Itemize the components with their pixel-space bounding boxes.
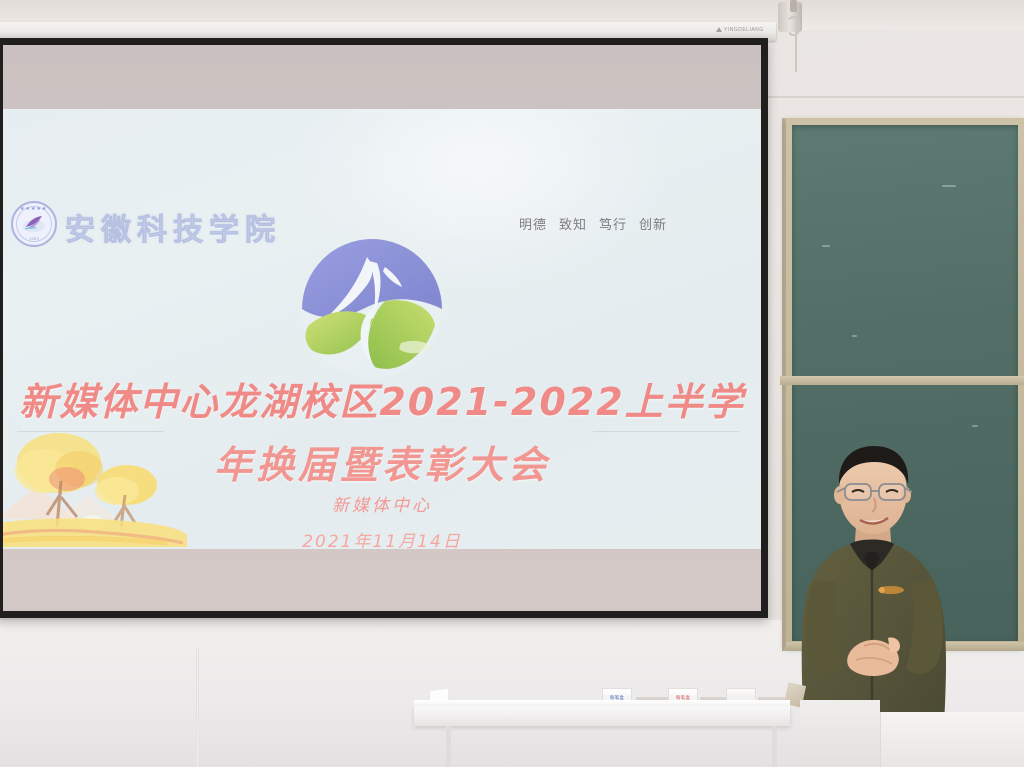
motto-word-2: 致知 <box>559 218 587 233</box>
chalk-smudge <box>822 245 830 247</box>
screen-brand-label: YINGDELIANG <box>716 27 764 33</box>
presentation-slide: ★★★★★ 1983 安徽科技学院 明德致知笃行创新 <box>3 109 761 549</box>
chalk-smudge <box>942 185 956 187</box>
slide-title-line1: 新媒体中心龙湖校区2021-2022上半学 <box>3 371 761 426</box>
teacher-desk[interactable] <box>880 712 1024 767</box>
motto-word-4: 创新 <box>639 218 667 233</box>
teacher-desk-left <box>800 700 880 767</box>
seal-bird-icon <box>22 213 46 233</box>
power-cord <box>795 30 797 72</box>
seal-stars: ★★★★★ <box>20 206 47 212</box>
lectern-ledge[interactable] <box>414 706 790 726</box>
wall-seam <box>762 96 1024 98</box>
motto-word-3: 笃行 <box>599 218 627 233</box>
slide-title-line2: 年换届暨表彰大会 <box>3 434 761 489</box>
lectern-leg <box>772 726 777 767</box>
projection-screen[interactable]: ★★★★★ 1983 安徽科技学院 明德致知笃行创新 <box>0 38 768 618</box>
wall-panel-joint <box>196 648 199 767</box>
seal-year-text: 1983 <box>11 236 57 241</box>
brand-triangle-icon <box>716 27 722 32</box>
chalk-smudge <box>852 335 857 337</box>
mount-bolt-icon <box>790 0 797 12</box>
classroom-scene: YINGDELIANG ★★★★★ 1983 <box>0 0 1024 767</box>
university-motto: 明德致知笃行创新 <box>519 214 679 233</box>
new-media-center-logo <box>289 233 455 385</box>
cord-loop-icon <box>786 16 801 36</box>
screen-surface: ★★★★★ 1983 安徽科技学院 明德致知笃行创新 <box>3 45 761 611</box>
university-name: 安徽科技学院 <box>65 205 281 249</box>
university-seal: ★★★★★ 1983 <box>11 201 57 247</box>
motto-word-1: 明德 <box>519 218 547 233</box>
chalk-smudge <box>972 425 978 427</box>
lectern-leg <box>446 726 451 767</box>
chalkboard-divider <box>780 376 1024 385</box>
